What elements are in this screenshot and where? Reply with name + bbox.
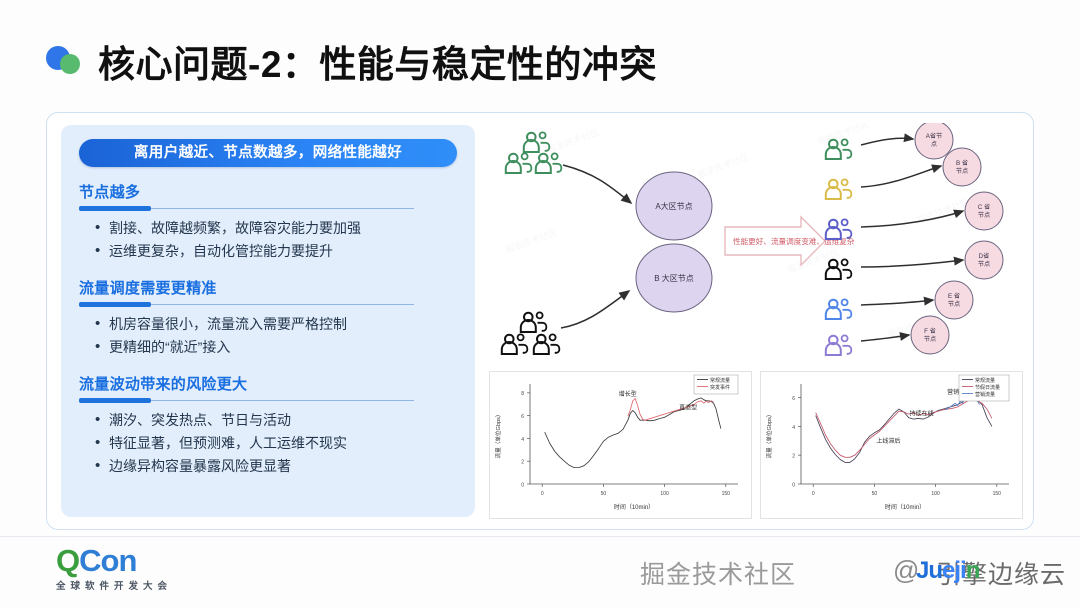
watermark-brand-part2: eji xyxy=(942,557,966,584)
svg-text:持续在线: 持续在线 xyxy=(910,409,934,417)
region-node-a-label: A大区节点 xyxy=(655,201,692,211)
svg-text:上线滞后: 上线滞后 xyxy=(876,437,900,445)
svg-text:掘金技术社区: 掘金技术社区 xyxy=(696,151,751,180)
footer-divider xyxy=(0,536,1080,537)
transition-arrow-label: 性能更好、流量调度变难、运维复杂 xyxy=(733,236,855,246)
brand-dots-icon xyxy=(46,44,84,78)
watermark-brand-part3: n xyxy=(966,557,980,584)
svg-text:C 省: C 省 xyxy=(978,203,990,211)
svg-text:时间（10min）: 时间（10min） xyxy=(885,503,925,511)
list-item: 特征显著，但预测难，人工运维不现实 xyxy=(95,432,457,455)
region-node-b: B 大区节点 xyxy=(636,244,712,312)
svg-text:0: 0 xyxy=(521,482,524,488)
watermark: 掘金技术社区 @ Juejin xyxy=(640,551,1070,595)
svg-text:100: 100 xyxy=(931,491,940,497)
svg-text:150: 150 xyxy=(722,491,731,497)
province-node-d: D省 节点 xyxy=(965,241,1003,279)
section-bullets: 机房容量很小，流量流入需要严格控制 更精细的“就近”接入 xyxy=(79,313,457,359)
section-node-count: 节点越多 割接、故障越频繁，故障容灾能力要加强 运维更复杂，自动化管控能力要提升 xyxy=(79,181,457,263)
slide-header: 核心问题-2：性能与稳定性的冲突 xyxy=(46,30,657,92)
left-panel: 离用户越近、节点数越多，网络性能越好 节点越多 割接、故障越频繁，故障容灾能力要… xyxy=(61,125,475,517)
svg-text:D省: D省 xyxy=(979,252,990,260)
svg-text:B 省: B 省 xyxy=(956,159,968,167)
chart-traffic-campaign: 0246050100150时间（10min）流量（单位Gbps）上线滞后持续在线… xyxy=(760,371,1023,519)
svg-text:流量（单位Gbps）: 流量（单位Gbps） xyxy=(765,412,773,459)
svg-text:4: 4 xyxy=(792,425,795,431)
svg-text:常规流量: 常规流量 xyxy=(710,377,730,384)
page-title: 核心问题-2：性能与稳定性的冲突 xyxy=(98,34,657,88)
svg-text:突发事件: 突发事件 xyxy=(710,384,730,391)
svg-text:100: 100 xyxy=(660,491,669,497)
province-node-e: E 省 节点 xyxy=(935,281,973,319)
qcon-logo: QCon 全球软件开发大会 xyxy=(56,545,172,592)
svg-text:0: 0 xyxy=(541,491,544,497)
svg-text:直退型: 直退型 xyxy=(679,404,697,412)
watermark-label: 掘金技术社区 xyxy=(640,555,796,591)
province-node-f: F 省 节点 xyxy=(911,316,949,354)
architecture-diagram: 掘金技术社区 掘金技术社区 掘金技术社区 掘金技术社区 掘金技术社区 掘金技术社… xyxy=(489,123,1021,373)
section-heading: 流量调度需要更精准 xyxy=(79,277,457,298)
section-heading: 流量波动带来的风险更大 xyxy=(79,373,457,394)
section-traffic-scheduling: 流量调度需要更精准 机房容量很小，流量流入需要严格控制 更精细的“就近”接入 xyxy=(79,277,457,359)
section-rule xyxy=(79,302,414,307)
svg-text:0: 0 xyxy=(812,491,815,497)
list-item: 边缘异构容量暴露风险更显著 xyxy=(95,455,457,478)
svg-text:6: 6 xyxy=(521,414,524,420)
svg-text:节假日流量: 节假日流量 xyxy=(975,384,1000,391)
svg-text:4: 4 xyxy=(521,437,524,443)
svg-text:营销流量: 营销流量 xyxy=(975,391,995,398)
section-traffic-volatility: 流量波动带来的风险更大 潮汐、突发热点、节日与活动 特征显著，但预测难，人工运维… xyxy=(79,373,457,478)
watermark-brand: Juejin xyxy=(916,557,979,585)
content-card: 离用户越近、节点数越多，网络性能越好 节点越多 割接、故障越频繁，故障容灾能力要… xyxy=(46,112,1034,530)
svg-text:节点: 节点 xyxy=(956,167,968,175)
watermark-brand-part1: Ju xyxy=(916,557,942,584)
user-group-black xyxy=(502,312,560,354)
svg-text:点: 点 xyxy=(931,140,937,148)
svg-text:A省节: A省节 xyxy=(926,132,943,140)
svg-text:2: 2 xyxy=(792,454,795,460)
svg-text:掘金技术社区: 掘金技术社区 xyxy=(504,226,559,255)
qcon-logo-con: Con xyxy=(79,543,136,578)
province-node-c: C 省 节点 xyxy=(965,192,1003,230)
svg-text:常规流量: 常规流量 xyxy=(975,377,995,384)
list-item: 机房容量很小，流量流入需要严格控制 xyxy=(95,313,457,336)
svg-text:50: 50 xyxy=(601,491,607,497)
qcon-logo-subtitle: 全球软件开发大会 xyxy=(56,578,172,592)
svg-text:掘金技术社区: 掘金技术社区 xyxy=(816,123,871,147)
footer-right: 引擎边缘云 掘金技术社区 @ Juejin xyxy=(640,551,1070,595)
svg-text:掘金技术社区: 掘金技术社区 xyxy=(546,126,601,155)
svg-text:50: 50 xyxy=(872,491,878,497)
svg-text:流量（单位Gbps）: 流量（单位Gbps） xyxy=(494,412,502,459)
list-item: 潮汐、突发热点、节日与活动 xyxy=(95,409,457,432)
section-bullets: 割接、故障越频繁，故障容灾能力要加强 运维更复杂，自动化管控能力要提升 xyxy=(79,217,457,263)
svg-text:节点: 节点 xyxy=(948,300,960,308)
section-rule xyxy=(79,398,414,403)
section-rule xyxy=(79,206,414,211)
svg-text:150: 150 xyxy=(993,491,1002,497)
list-item: 更精细的“就近”接入 xyxy=(95,336,457,359)
list-item: 运维更复杂，自动化管控能力要提升 xyxy=(95,240,457,263)
svg-text:2: 2 xyxy=(521,460,524,466)
province-node-b: B 省 节点 xyxy=(943,148,981,186)
qcon-logo-q: Q xyxy=(56,543,79,578)
svg-text:节点: 节点 xyxy=(978,260,990,268)
svg-text:节点: 节点 xyxy=(978,211,990,219)
slide-root: 核心问题-2：性能与稳定性的冲突 离用户越近、节点数越多，网络性能越好 节点越多… xyxy=(0,0,1080,607)
svg-text:节点: 节点 xyxy=(924,335,936,343)
svg-text:8: 8 xyxy=(521,391,524,397)
svg-text:时间（10min）: 时间（10min） xyxy=(614,503,654,511)
province-node-a: A省节 点 xyxy=(915,123,953,159)
region-node-b-label: B 大区节点 xyxy=(654,273,694,283)
chart-traffic-burst: 02468050100150时间（10min）流量（单位Gbps）增长型直退型常… xyxy=(489,371,752,519)
svg-text:F 省: F 省 xyxy=(924,327,936,335)
list-item: 割接、故障越频繁，故障容灾能力要加强 xyxy=(95,217,457,240)
section-heading: 节点越多 xyxy=(79,181,457,202)
left-panel-banner: 离用户越近、节点数越多，网络性能越好 xyxy=(79,139,457,167)
section-bullets: 潮汐、突发热点、节日与活动 特征显著，但预测难，人工运维不现实 边缘异构容量暴露… xyxy=(79,409,457,478)
svg-text:E 省: E 省 xyxy=(948,292,960,300)
svg-text:0: 0 xyxy=(792,482,795,488)
region-node-a: A大区节点 xyxy=(636,172,712,240)
svg-text:增长型: 增长型 xyxy=(619,390,637,398)
svg-text:6: 6 xyxy=(792,396,795,402)
charts-row: 02468050100150时间（10min）流量（单位Gbps）增长型直退型常… xyxy=(489,371,1023,519)
